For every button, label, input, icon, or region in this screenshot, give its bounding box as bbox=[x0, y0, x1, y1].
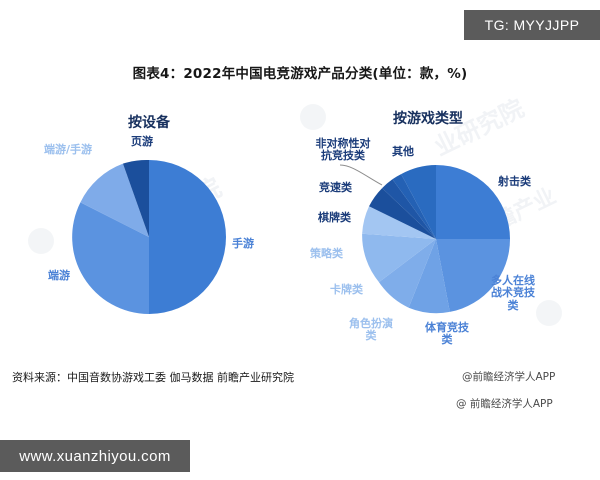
pie-label-mobile: 手游 bbox=[232, 238, 254, 250]
pie-label-web: 页游 bbox=[131, 136, 153, 148]
right-pie-title: 按游戏类型 bbox=[393, 108, 463, 128]
pie-label-moba-line3: 类 bbox=[508, 299, 519, 312]
telegram-watermark-badge: TG: MYYJJPP bbox=[464, 10, 600, 40]
left-pie-title: 按设备 bbox=[128, 112, 170, 132]
pie-label-strategy: 策略类 bbox=[310, 248, 343, 260]
pie-label-moba-line2: 战术竞技 bbox=[491, 286, 535, 299]
pie-label-card: 卡牌类 bbox=[330, 284, 363, 296]
watermark-dot bbox=[28, 228, 54, 254]
pie-label-moba: 多人在线 战术竞技 类 bbox=[482, 275, 544, 312]
pie-label-asymmetric-line2: 抗竞技类 bbox=[321, 149, 365, 162]
pie-label-shooting: 射击类 bbox=[498, 176, 531, 188]
chart-title: 图表4：2022年中国电竞游戏产品分类(单位：款，%) bbox=[0, 62, 600, 82]
pie-label-pc-mobile: 端游/手游 bbox=[44, 144, 92, 156]
pie-chart-by-device bbox=[72, 160, 226, 314]
pie-label-board: 棋牌类 bbox=[318, 212, 351, 224]
attribution-primary: @前瞻经济学人APP bbox=[462, 369, 555, 384]
pie-label-sports: 体育竞技 类 bbox=[420, 322, 474, 347]
left-pie-svg bbox=[72, 160, 226, 314]
pie-label-asymmetric: 非对称性对 抗竞技类 bbox=[305, 138, 381, 163]
pie-label-sports-line2: 类 bbox=[442, 333, 453, 346]
pie-label-pc: 端游 bbox=[48, 270, 70, 282]
pie-slice-mobile[interactable] bbox=[149, 160, 226, 314]
pie-label-racing: 竞速类 bbox=[319, 182, 352, 194]
website-watermark-badge: www.xuanzhiyou.com bbox=[0, 440, 190, 472]
pie-label-other: 其他 bbox=[392, 146, 414, 158]
pie-label-rpg: 角色扮演 类 bbox=[341, 318, 401, 343]
attribution-secondary: @ 前瞻经济学人APP bbox=[456, 396, 553, 411]
watermark-dot bbox=[300, 104, 326, 130]
source-note: 资料来源：中国音数协游戏工委 伽马数据 前瞻产业研究院 bbox=[12, 369, 294, 385]
pie-label-rpg-line2: 类 bbox=[366, 329, 377, 342]
chart-canvas: 产业研究院 业研究院 前瞻产业 TG: MYYJJPP www.xuanzhiy… bbox=[0, 0, 600, 480]
